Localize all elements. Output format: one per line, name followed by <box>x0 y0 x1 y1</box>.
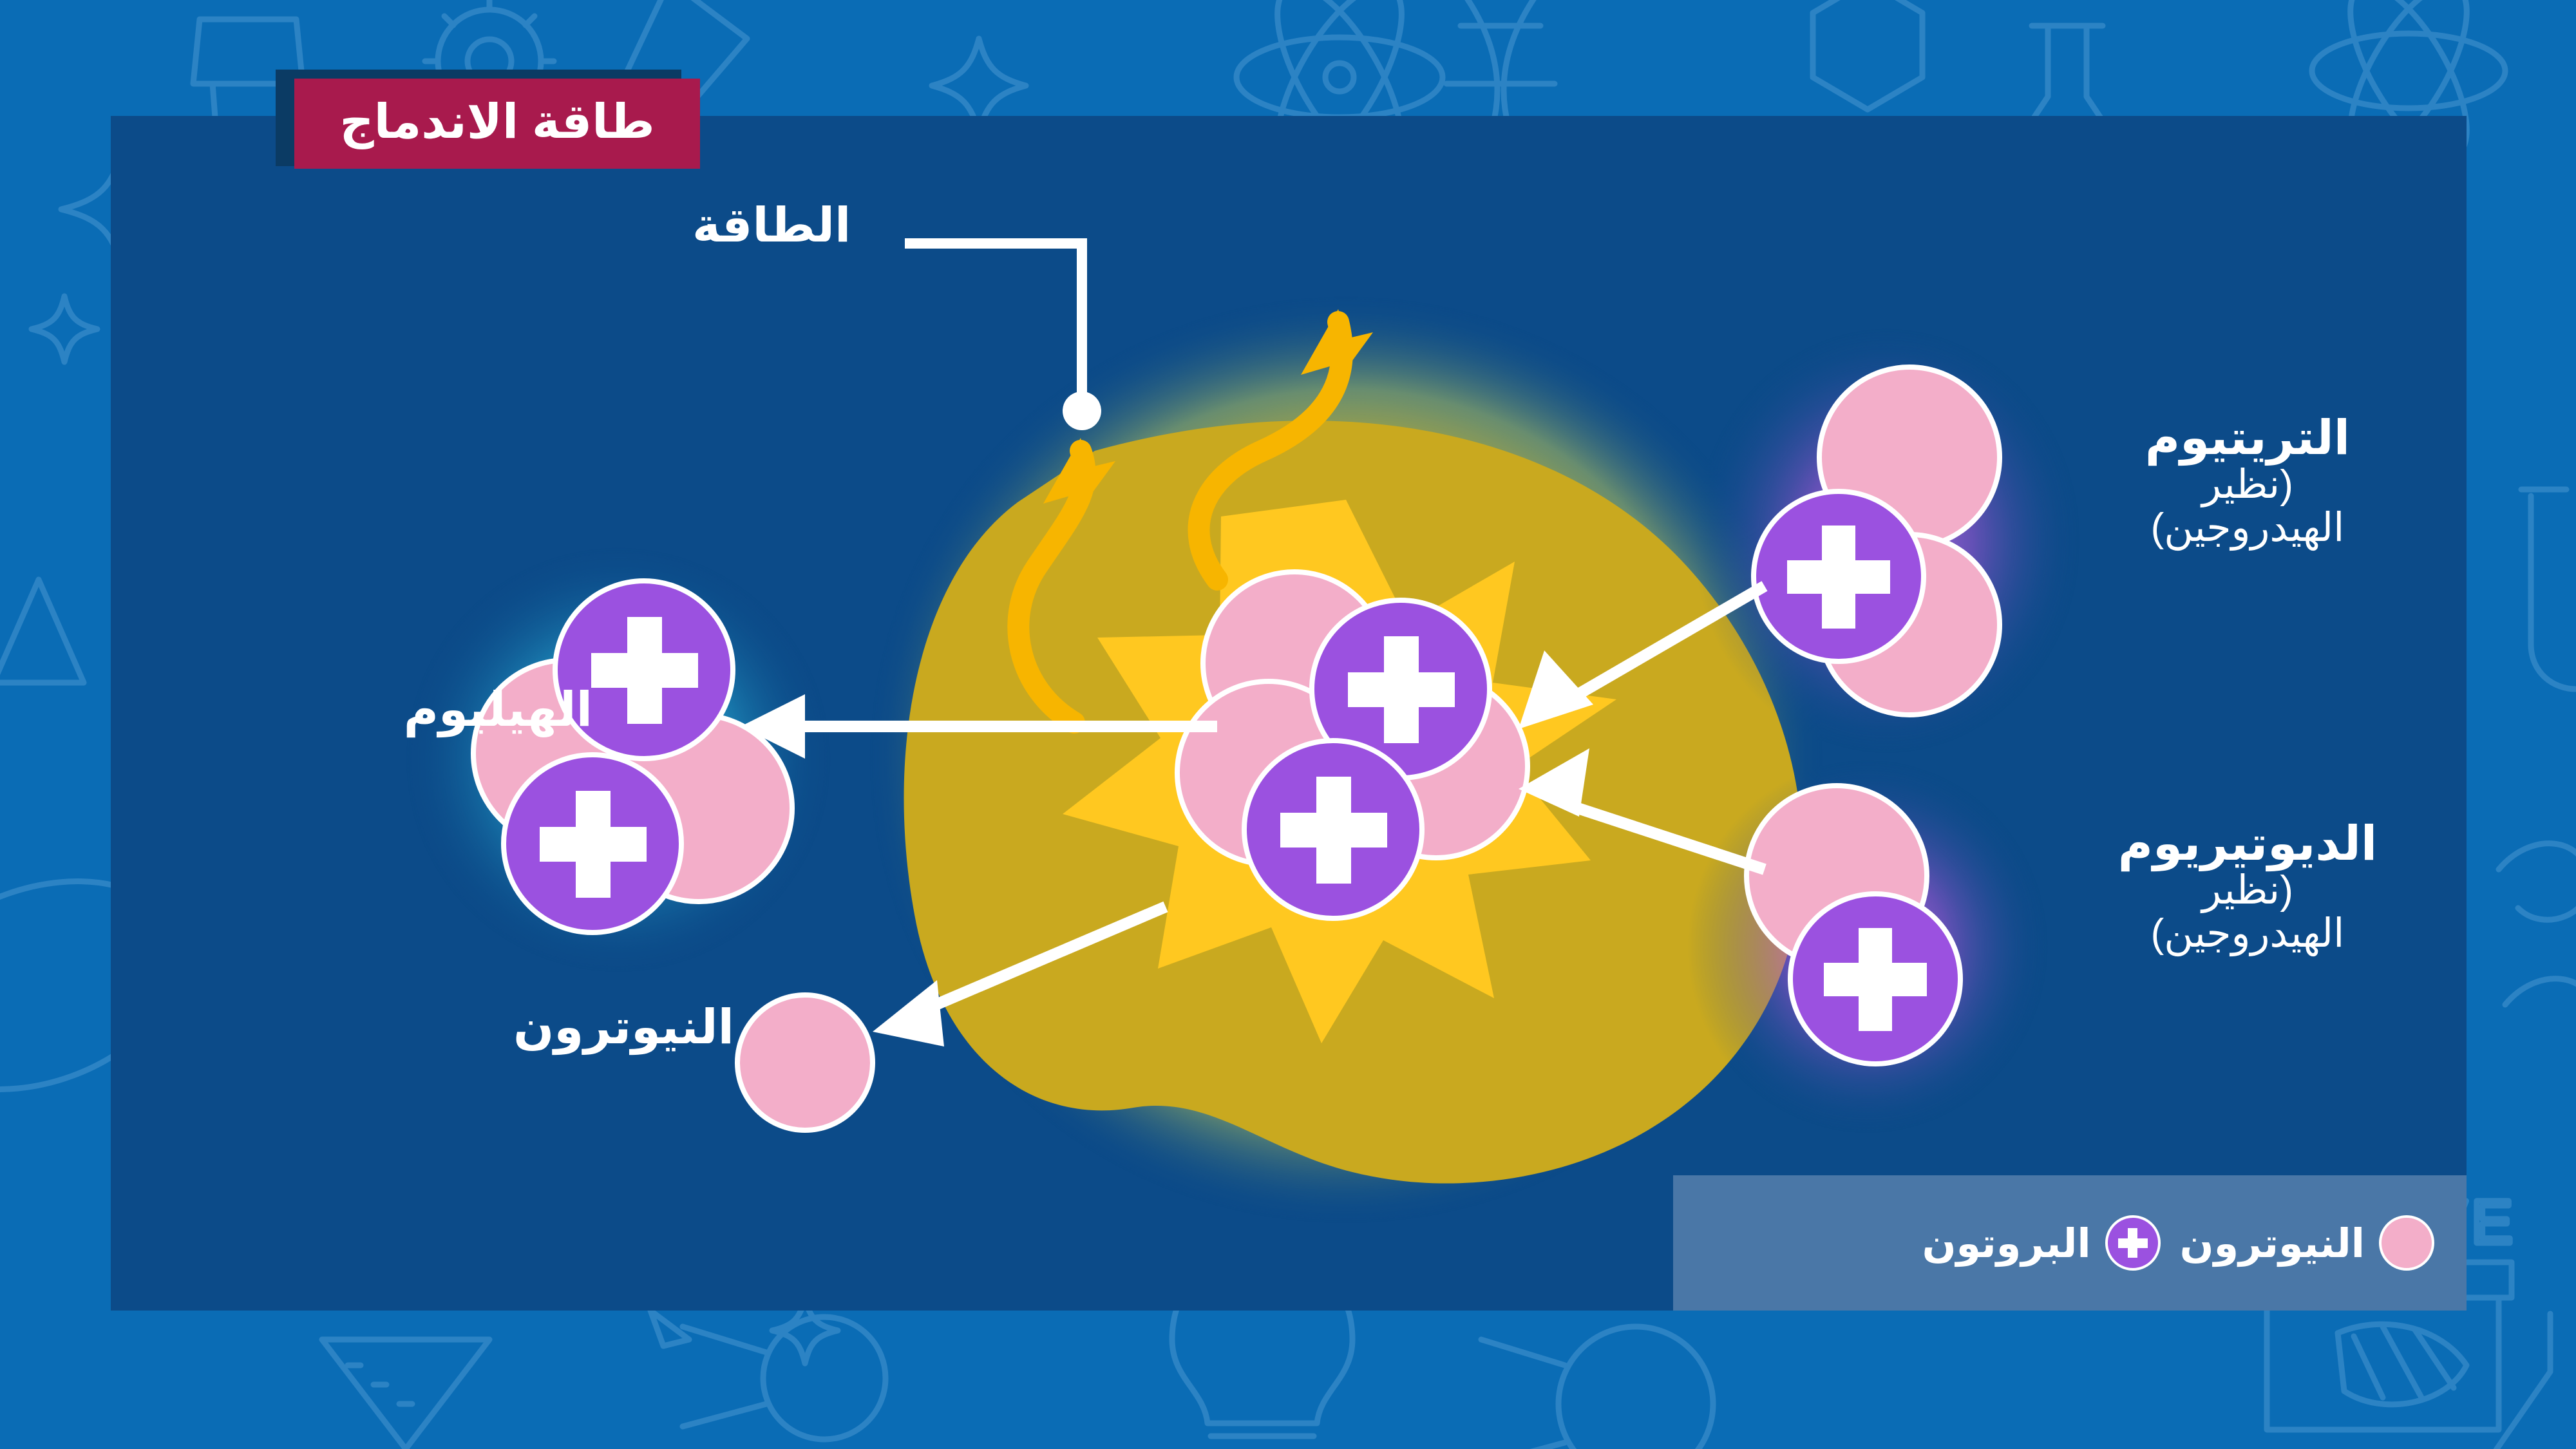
proton-swatch-icon <box>2105 1215 2161 1271</box>
label-tritium-sub-line2: الهيدروجين) <box>2048 507 2447 550</box>
legend-neutron-label: النيوترون <box>2180 1220 2365 1267</box>
plus-vertical-bar <box>2128 1228 2137 1258</box>
page-title: طاقة الاندماج <box>339 98 654 149</box>
legend-box: النيوترون البروتون <box>1673 1175 2467 1311</box>
infographic-stage: ALIVE <box>0 0 2576 1449</box>
label-deuterium: الديوتيريوم (نظير الهيدروجين) <box>2029 818 2467 956</box>
label-deuterium-sub-line1: (نظير <box>2029 869 2467 913</box>
label-deuterium-text: الديوتيريوم <box>2029 818 2467 869</box>
page-title-badge: طاقة الاندماج <box>294 79 700 169</box>
label-helium: الهيليوم <box>193 684 592 735</box>
label-neutron: النيوترون <box>412 1001 734 1053</box>
label-tritium-text: التريتيوم <box>2048 412 2447 464</box>
legend-proton-label: البروتون <box>1922 1220 2091 1267</box>
legend-item-proton: البروتون <box>1922 1215 2161 1271</box>
label-tritium-sub-line1: (نظير <box>2048 464 2447 507</box>
neutron-swatch-icon <box>2379 1215 2434 1271</box>
label-neutron-text: النيوترون <box>412 1001 734 1053</box>
label-energy: الطاقة <box>692 200 905 251</box>
label-helium-text: الهيليوم <box>193 684 592 735</box>
legend-item-neutron: النيوترون <box>2180 1215 2434 1271</box>
label-tritium: التريتيوم (نظير الهيدروجين) <box>2048 412 2447 550</box>
label-energy-text: الطاقة <box>692 200 905 251</box>
label-deuterium-sub-line2: الهيدروجين) <box>2029 913 2467 956</box>
